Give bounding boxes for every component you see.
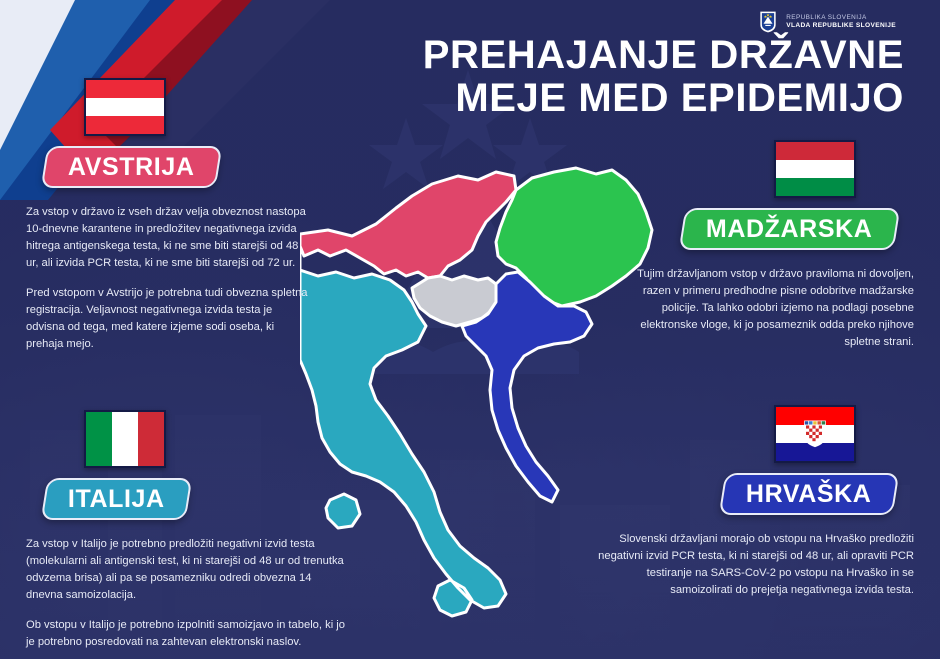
infographic-page: REPUBLIKA SLOVENIJA VLADA REPUBLIKE SLOV… [0,0,940,659]
country-label-hrvaska: HRVAŠKA [746,480,872,509]
slovenia-crest-icon [759,11,777,33]
country-label-madzarska: MADŽARSKA [706,215,873,244]
government-logo: REPUBLIKA SLOVENIJA VLADA REPUBLIKE SLOV… [759,11,896,33]
country-text-avstrija: Za vstop v državo iz vseh držav velja ob… [18,204,308,353]
country-panel-italija: ITALIJA Za vstop v Italijo je potrebno p… [18,410,348,651]
croatia-flag [774,405,856,463]
country-banner-italija[interactable]: ITALIJA [41,478,192,520]
paragraph: Pred vstopom v Avstrijo je potrebna tudi… [26,285,308,353]
logo-line-2: VLADA REPUBLIKE SLOVENIJE [786,22,896,30]
country-label-avstrija: AVSTRIJA [68,153,195,182]
austria-flag [84,78,166,136]
hungary-flag [774,140,856,198]
croatia-coat-of-arms-icon [802,418,828,448]
paragraph: Za vstop v Italijo je potrebno predložit… [26,536,348,604]
italy-flag [84,410,166,468]
paragraph: Ob vstopu v Italijo je potrebno izpolnit… [26,617,348,651]
austria-region [300,172,516,278]
country-banner-madzarska[interactable]: MADŽARSKA [678,208,899,250]
logo-line-1: REPUBLIKA SLOVENIJA [786,14,896,22]
country-banner-avstrija[interactable]: AVSTRIJA [41,146,222,188]
country-text-hrvaska: Slovenski državljani morajo ob vstopu na… [582,531,922,599]
country-label-italija: ITALIJA [68,485,165,514]
title-line-2: MEJE MED EPIDEMIJO [304,77,904,120]
country-banner-hrvaska[interactable]: HRVAŠKA [719,473,899,515]
country-panel-hrvaska: HRVAŠKA Slovenski državljani morajo ob v… [582,405,922,599]
country-panel-avstrija: AVSTRIJA Za vstop v državo iz vseh držav… [18,78,308,353]
page-title: PREHAJANJE DRŽAVNE MEJE MED EPIDEMIJO [304,34,904,120]
paragraph: Za vstop v državo iz vseh držav velja ob… [26,204,308,272]
paragraph: Slovenski državljani morajo ob vstopu na… [582,531,914,599]
country-text-madzarska: Tujim državljanom vstop v državo pravilo… [622,266,922,351]
country-text-italija: Za vstop v Italijo je potrebno predložit… [18,536,348,651]
country-panel-madzarska: MADŽARSKA Tujim državljanom vstop v drža… [622,140,922,351]
title-line-1: PREHAJANJE DRŽAVNE [423,33,904,77]
paragraph: Tujim državljanom vstop v državo pravilo… [622,266,914,351]
